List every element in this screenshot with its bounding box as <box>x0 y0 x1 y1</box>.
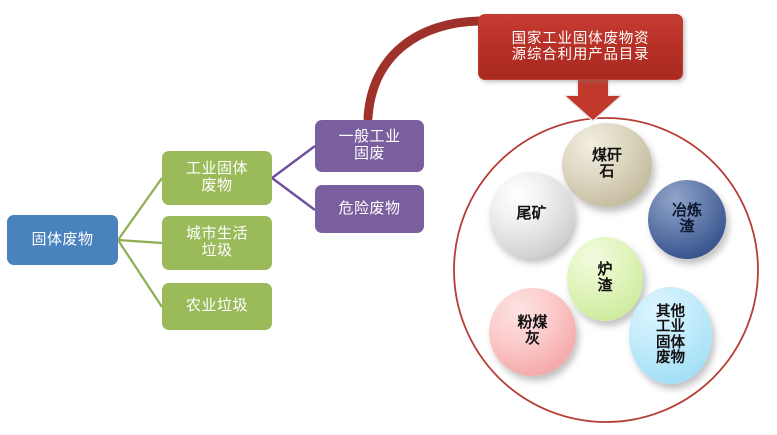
sphere-furnace-slag-label: 炉 渣 <box>597 263 612 295</box>
arc-highlight <box>368 21 480 118</box>
sphere-smelting-slag-label: 冶炼 渣 <box>672 204 702 236</box>
node-agricultural-waste[interactable]: 农业垃圾 <box>162 283 272 330</box>
node-hazardous-waste-label: 危险废物 <box>338 201 400 218</box>
connector-arc-to-catalog <box>368 21 480 118</box>
node-municipal-waste-label: 城市生活 垃圾 <box>186 226 248 260</box>
node-solid-waste-label: 固体废物 <box>31 232 93 249</box>
sphere-fly-ash-label: 粉煤 灰 <box>517 316 547 348</box>
sphere-other-industrial-solid-waste-label: 其他 工业 固体 废物 <box>656 305 685 366</box>
sphere-smelting-slag[interactable]: 冶炼 渣 <box>648 180 726 259</box>
connector-industrial-to-hazardous <box>272 178 315 210</box>
sphere-fly-ash[interactable]: 粉煤 灰 <box>489 288 576 376</box>
node-agricultural-waste-label: 农业垃圾 <box>186 298 248 315</box>
node-industrial-solid-waste[interactable]: 工业固体 废物 <box>162 151 272 205</box>
sphere-tailings[interactable]: 尾矿 <box>489 172 574 258</box>
node-hazardous-waste[interactable]: 危险废物 <box>315 185 424 233</box>
sphere-furnace-slag[interactable]: 炉 渣 <box>567 237 643 321</box>
diagram-canvas: 固体废物 工业固体 废物 城市生活 垃圾 农业垃圾 一般工业 固废 危险废物 国… <box>0 0 777 435</box>
node-general-industrial-waste-label: 一般工业 固废 <box>338 129 400 163</box>
node-catalog-title-label: 国家工业固体废物资 源综合利用产品目录 <box>512 31 650 63</box>
node-municipal-waste[interactable]: 城市生活 垃圾 <box>162 216 272 270</box>
connector-root-to-agricultural <box>118 240 162 307</box>
sphere-other-industrial-solid-waste[interactable]: 其他 工业 固体 废物 <box>629 287 712 384</box>
sphere-coal-gangue-label: 煤矸 石 <box>592 149 622 181</box>
connector-root-to-municipal <box>118 240 162 243</box>
down-arrow-icon <box>566 77 620 120</box>
connector-root-to-industrial <box>118 178 162 240</box>
node-solid-waste[interactable]: 固体废物 <box>7 215 118 265</box>
sphere-coal-gangue[interactable]: 煤矸 石 <box>562 123 652 207</box>
sphere-tailings-label: 尾矿 <box>516 207 546 223</box>
connector-industrial-to-general <box>272 146 315 178</box>
node-general-industrial-waste[interactable]: 一般工业 固废 <box>315 120 424 172</box>
node-industrial-solid-waste-label: 工业固体 废物 <box>186 161 248 195</box>
node-catalog-title[interactable]: 国家工业固体废物资 源综合利用产品目录 <box>478 14 683 80</box>
